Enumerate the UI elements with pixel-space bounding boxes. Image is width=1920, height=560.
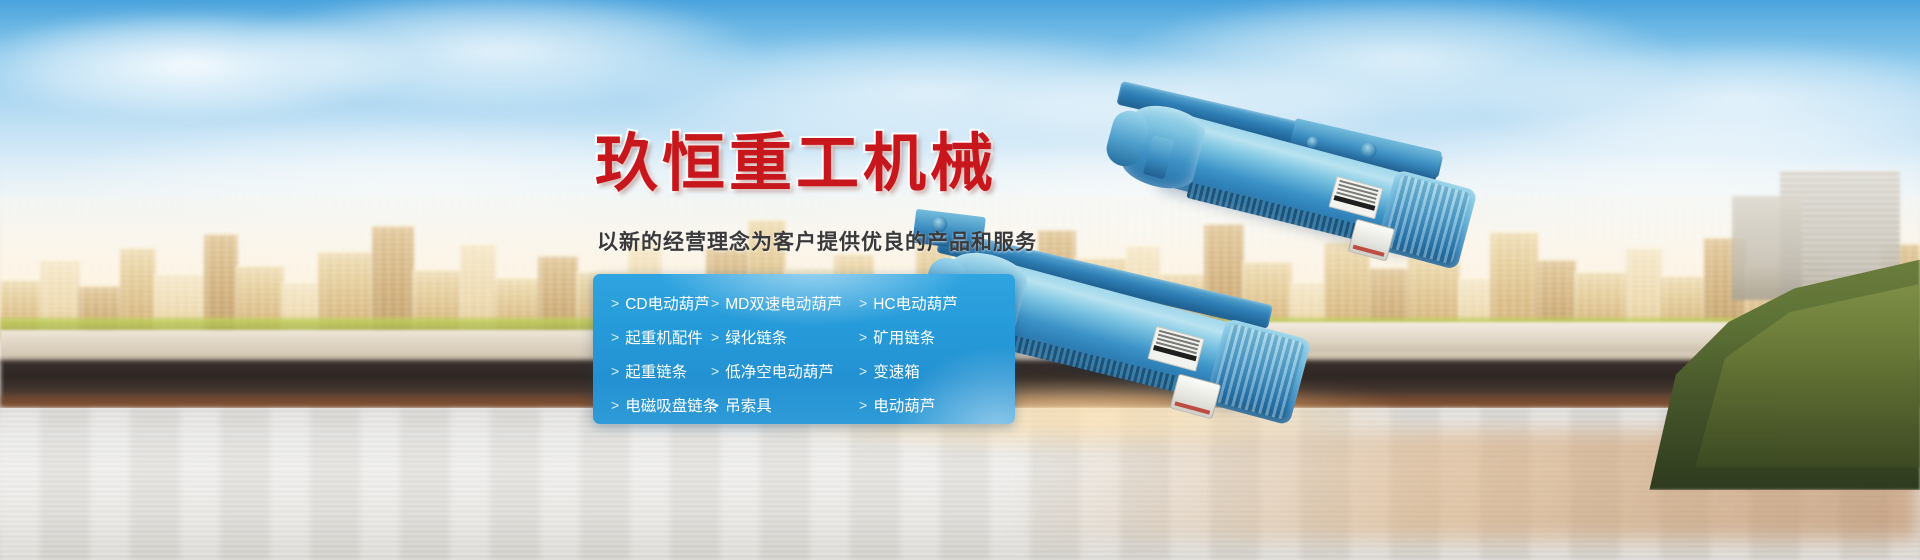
product-link-label: 矿用链条 [873,326,935,348]
product-link-slings[interactable]: > 吊索具 [711,394,859,416]
chevron-right-icon: > [711,329,719,345]
product-link-mining-chain[interactable]: > 矿用链条 [859,326,1009,348]
product-links-row: > 电磁吸盘链条 > 吊索具 > 电动葫芦 [593,388,1015,422]
product-links-row: > 起重机配件 > 绿化链条 > 矿用链条 [593,320,1015,354]
chevron-right-icon: > [611,295,619,311]
product-link-label: 电动葫芦 [873,394,935,416]
product-link-md-dual-speed-hoist[interactable]: > MD双速电动葫芦 [711,292,859,314]
chevron-right-icon: > [611,363,619,379]
page-title: 玖恒重工机械 [595,133,997,196]
product-link-label: HC电动葫芦 [873,292,957,314]
product-link-label: 低净空电动葫芦 [725,360,834,382]
product-link-greening-chain[interactable]: > 绿化链条 [711,326,859,348]
product-links-list: > CD电动葫芦 > MD双速电动葫芦 > HC电动葫芦 > 起重机配件 [593,274,1015,424]
product-link-label: 起重链条 [625,360,687,382]
product-link-hc-hoist[interactable]: > HC电动葫芦 [859,292,1009,314]
product-link-label: 起重机配件 [625,326,703,348]
product-links-row: > 起重链条 > 低净空电动葫芦 > 变速箱 [593,354,1015,388]
chevron-right-icon: > [611,397,619,413]
chevron-right-icon: > [859,397,867,413]
chevron-right-icon: > [859,363,867,379]
product-link-label: MD双速电动葫芦 [725,292,842,314]
product-link-label: 吊索具 [725,394,772,416]
product-link-cd-hoist[interactable]: > CD电动葫芦 [593,292,711,314]
chevron-right-icon: > [711,363,719,379]
product-link-label: 变速箱 [873,360,920,382]
product-link-electric-hoist[interactable]: > 电动葫芦 [859,394,1009,416]
product-links-row: > CD电动葫芦 > MD双速电动葫芦 > HC电动葫芦 [593,286,1015,320]
chevron-right-icon: > [859,329,867,345]
chevron-right-icon: > [611,329,619,345]
page-subtitle: 以新的经营理念为客户提供优良的产品和服务 [597,226,1037,256]
chevron-right-icon: > [711,295,719,311]
product-link-gearbox[interactable]: > 变速箱 [859,360,1009,382]
hero-banner: 玖恒重工机械 以新的经营理念为客户提供优良的产品和服务 > CD电动葫芦 > M… [0,0,1920,560]
product-link-label: 电磁吸盘链条 [625,394,718,416]
product-link-label: CD电动葫芦 [625,292,709,314]
product-link-label: 绿化链条 [725,326,787,348]
product-link-crane-parts[interactable]: > 起重机配件 [593,326,711,348]
product-links-panel: > CD电动葫芦 > MD双速电动葫芦 > HC电动葫芦 > 起重机配件 [593,274,1015,424]
hoist-illustration-group [1060,40,1760,490]
product-link-low-headroom-hoist[interactable]: > 低净空电动葫芦 [711,360,859,382]
chevron-right-icon: > [711,397,719,413]
product-link-lifting-chain[interactable]: > 起重链条 [593,360,711,382]
chevron-right-icon: > [859,295,867,311]
product-link-magnetic-chuck-chain[interactable]: > 电磁吸盘链条 [593,394,711,416]
